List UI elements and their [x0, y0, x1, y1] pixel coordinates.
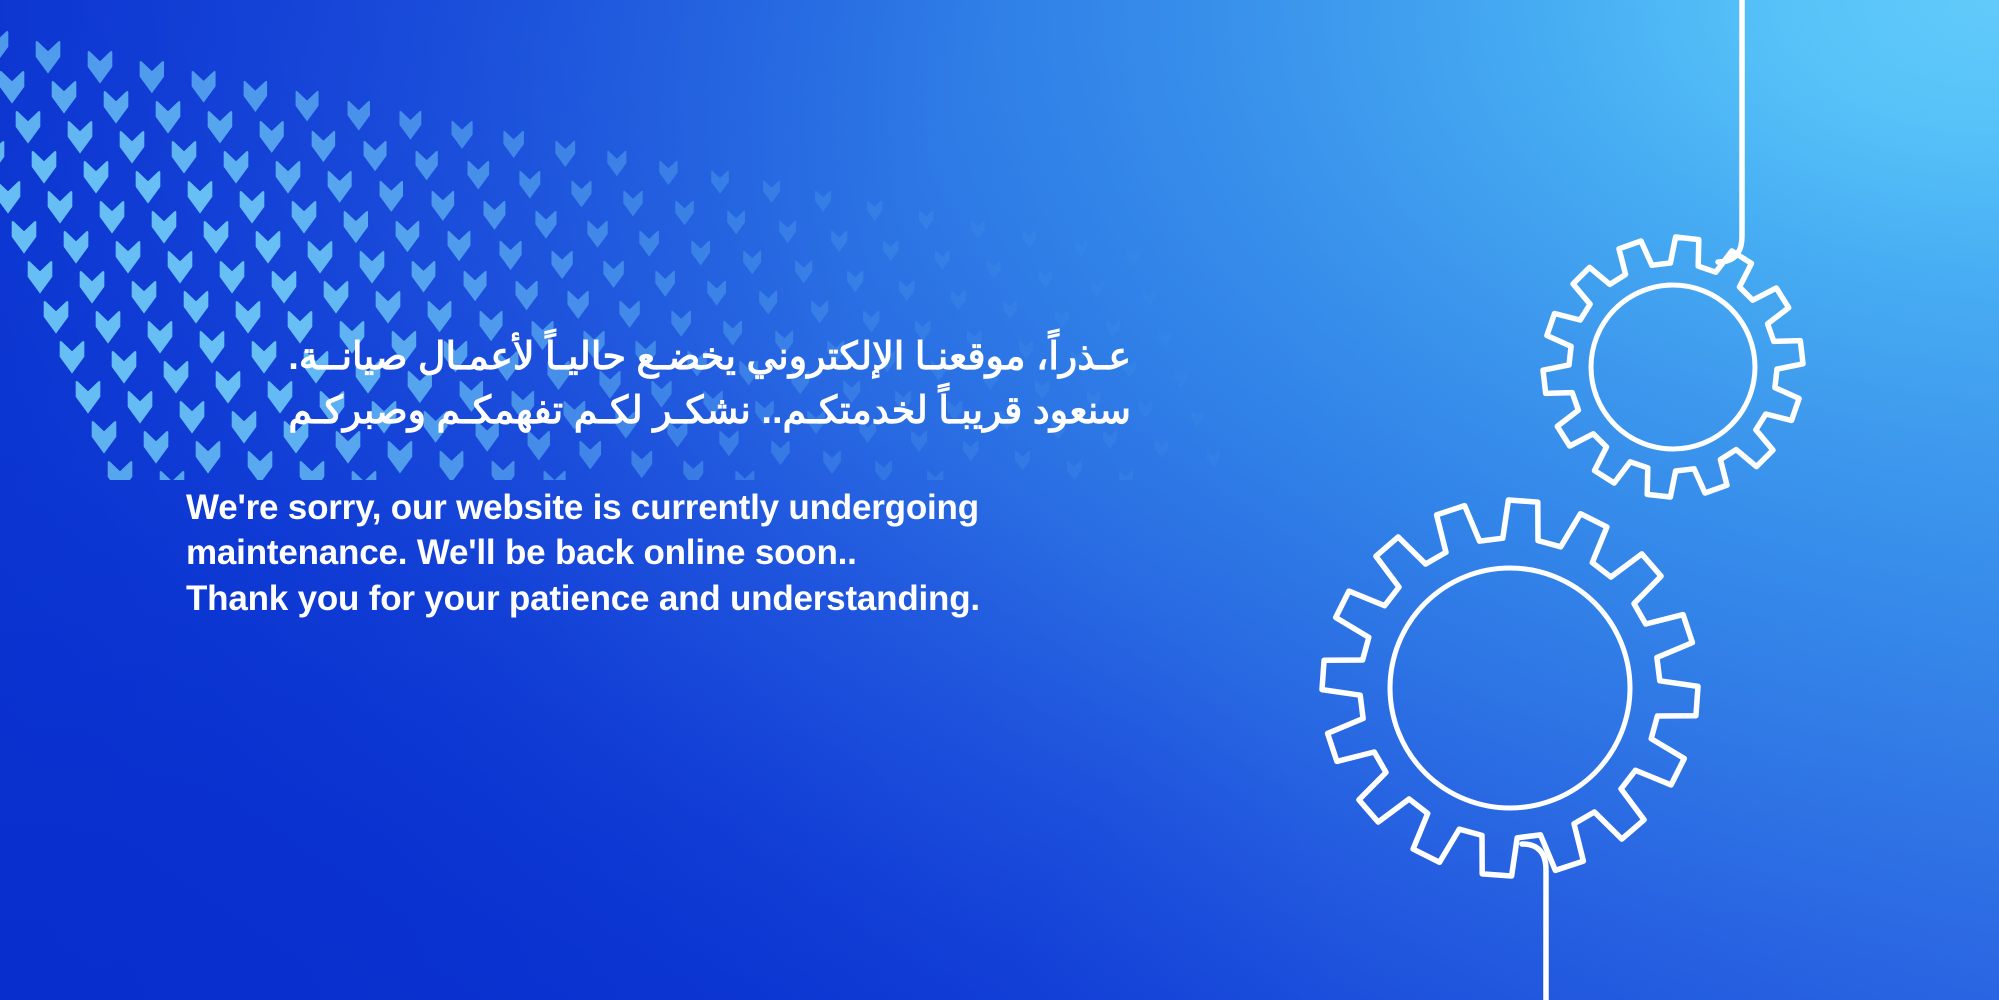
arabic-message: عـذراً، موقعنـا الإلكتروني يخضـع حاليـاً…	[186, 330, 1131, 439]
english-line-1: We're sorry, our website is currently un…	[186, 485, 1136, 531]
arabic-line-1: عـذراً، موقعنـا الإلكتروني يخضـع حاليـاً…	[186, 330, 1131, 384]
maintenance-page: عـذراً، موقعنـا الإلكتروني يخضـع حاليـاً…	[0, 0, 1999, 1000]
message-block: عـذراً، موقعنـا الإلكتروني يخضـع حاليـاً…	[186, 330, 1136, 621]
english-line-2: maintenance. We'll be back online soon..	[186, 530, 1136, 576]
arabic-line-2: سنعود قريبـاً لخدمتكـم.. نشكـر لكـم تفهم…	[186, 384, 1131, 438]
english-line-3: Thank you for your patience and understa…	[186, 576, 1136, 622]
english-message: We're sorry, our website is currently un…	[186, 485, 1136, 622]
